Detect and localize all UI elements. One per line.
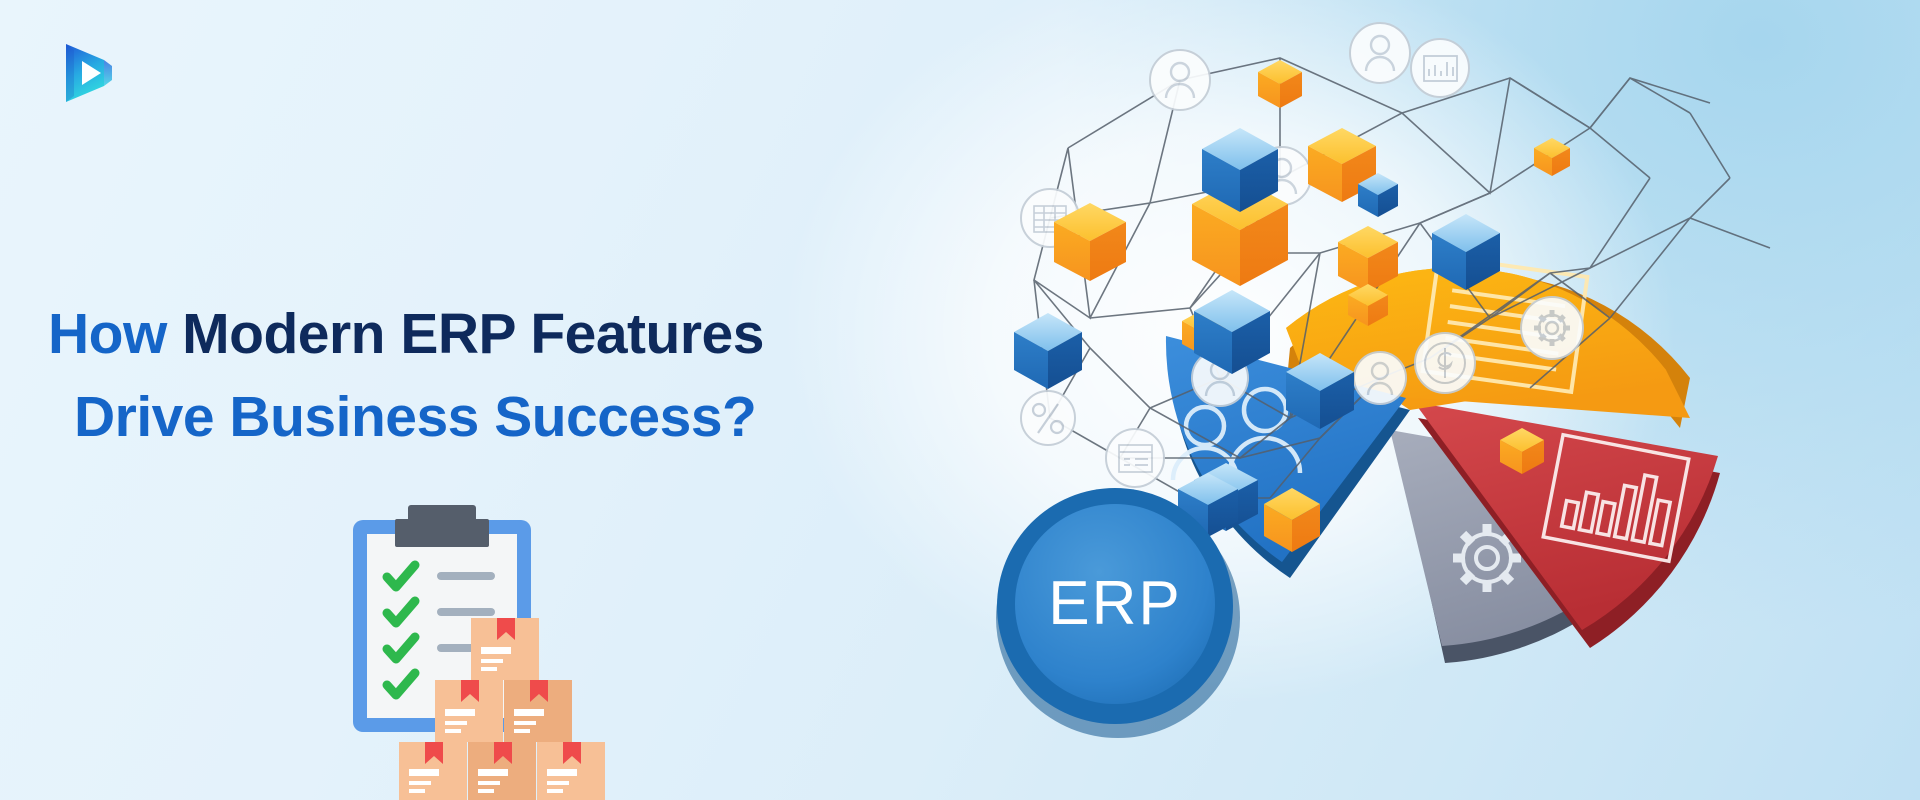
cube-blue[interactable] <box>1014 313 1082 389</box>
user-node-icon[interactable] <box>1150 50 1210 110</box>
erp-label: ERP <box>1048 569 1181 638</box>
parcel-box <box>435 680 503 742</box>
user-node-icon[interactable] <box>1354 352 1406 404</box>
clipboard-clip-base <box>395 519 489 547</box>
parcel-box <box>537 742 605 800</box>
page-title: How Modern ERP Features Drive Business S… <box>48 293 1008 458</box>
checklist-line <box>437 572 495 580</box>
checklist-line <box>437 608 495 616</box>
bar-chart-node-icon[interactable] <box>1411 39 1469 97</box>
gear-node-icon[interactable] <box>1521 297 1583 359</box>
user-node-icon[interactable] <box>1350 23 1410 83</box>
parcel-box <box>468 742 536 800</box>
document-list-node-icon[interactable] <box>1106 429 1164 487</box>
headline-highlight: How <box>48 302 167 366</box>
parcel-box <box>471 618 539 680</box>
brand-logo[interactable] <box>52 36 124 108</box>
dollar-coin-node-icon[interactable] <box>1415 333 1475 393</box>
cube-orange-small[interactable] <box>1258 60 1302 108</box>
checklist-and-boxes-illustration <box>345 495 655 800</box>
headline-line-2: Drive Business Success? <box>48 376 1008 459</box>
play-triangle-logo-icon <box>52 36 124 108</box>
parcel-box <box>504 680 572 742</box>
erp-network-pie-illustration: ERP <box>990 18 1920 788</box>
headline-line-1: How Modern ERP Features <box>48 293 1008 376</box>
parcel-box <box>399 742 467 800</box>
percent-node-icon[interactable] <box>1021 391 1075 445</box>
erp-banner: How Modern ERP Features Drive Business S… <box>0 0 1920 800</box>
headline-rest: Modern ERP Features <box>182 302 764 366</box>
